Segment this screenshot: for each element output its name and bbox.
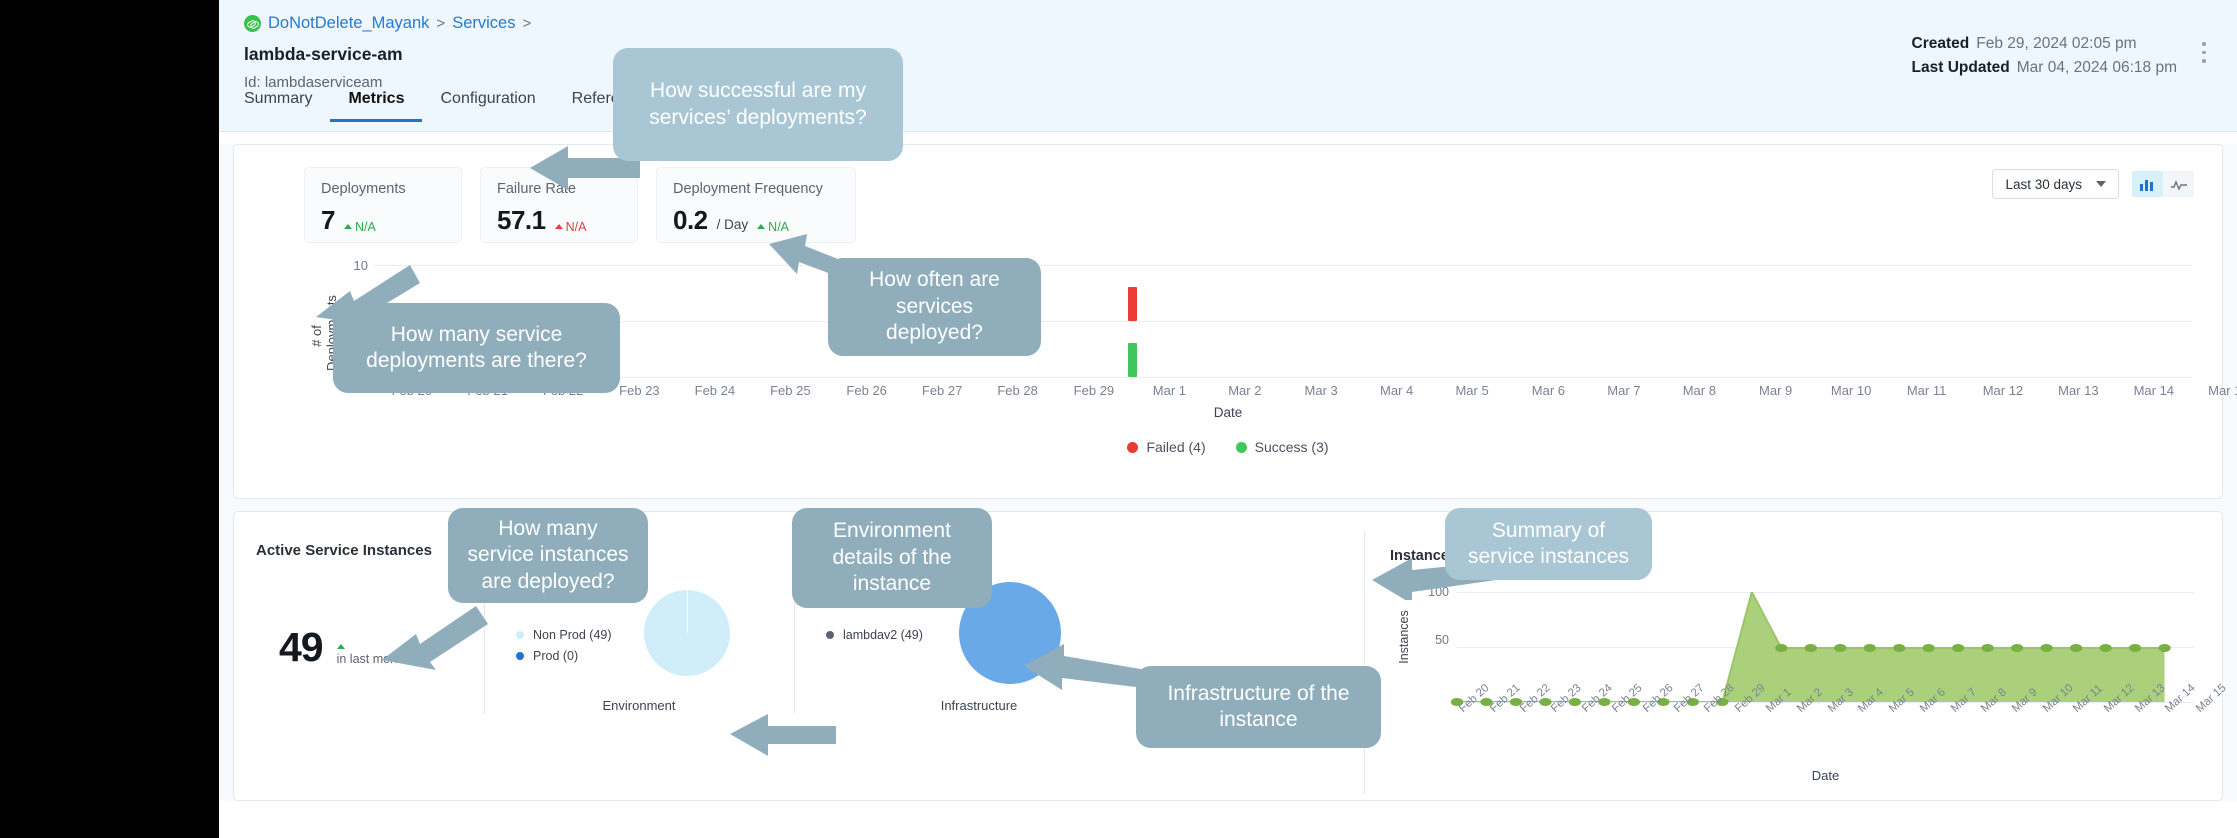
kpi-failure-rate-delta: N/A — [555, 220, 587, 234]
instance-count-history-ylabel: Instances — [1397, 592, 1411, 682]
xtick: Mar 12 — [1983, 383, 2023, 398]
bar-chart-icon[interactable] — [2132, 171, 2163, 197]
trend-up-icon — [757, 224, 765, 229]
deployments-chart-xticks: Feb 20 Feb 21 Feb 22 Feb 23 Feb 24 Feb 2… — [374, 383, 2192, 403]
active-service-instances-title: Active Service Instances — [256, 542, 432, 559]
callout-deployment-count: How many service deployments are there? — [333, 303, 620, 393]
legend-label-success: Success (3) — [1255, 439, 1329, 455]
bar-failed-feb-29[interactable] — [1128, 287, 1137, 321]
xtick: Mar 10 — [1831, 383, 1871, 398]
xtick: Mar 9 — [1759, 383, 1792, 398]
legend-label-non-prod: Non Prod (49) — [533, 628, 612, 642]
xtick: Feb 27 — [922, 383, 962, 398]
xtick: Mar 8 — [1683, 383, 1716, 398]
legend-dot-success — [1236, 442, 1247, 453]
callout-environment-details: Environment details of the instance — [792, 508, 992, 608]
legend-label-prod: Prod (0) — [533, 649, 578, 663]
breadcrumb: DoNotDelete_Mayank > Services > — [219, 14, 2237, 33]
record-metadata: CreatedFeb 29, 2024 02:05 pm Last Update… — [1912, 32, 2177, 80]
xtick: Mar 1 — [1153, 383, 1186, 398]
legend-dot-non-prod — [516, 631, 524, 639]
legend-label-lambdav2: lambdav2 (49) — [843, 628, 923, 642]
xtick: Mar 4 — [1380, 383, 1413, 398]
xtick: Mar 15 — [2194, 682, 2229, 715]
last-updated-label: Last Updated — [1912, 59, 2010, 76]
kpi-deployment-frequency-value: 0.2 — [673, 205, 708, 236]
xtick: Feb 24 — [695, 383, 735, 398]
environment-pie-chart[interactable] — [644, 590, 730, 676]
last-updated-value: Mar 04, 2024 06:18 pm — [2017, 59, 2177, 76]
instance-history-markers — [1457, 592, 2194, 702]
legend-label-failed: Failed (4) — [1146, 439, 1205, 455]
kpi-deployments: Deployments 7 N/A — [304, 167, 462, 243]
legend-dot-lambdav2 — [826, 631, 834, 639]
kpi-deployment-frequency-unit: / Day — [717, 217, 749, 232]
kpi-deployments-delta-text: N/A — [355, 220, 376, 234]
callout-arrow-6 — [1020, 640, 1150, 695]
kpi-deployments-delta: N/A — [344, 220, 376, 234]
instance-history-xticks: Feb 20 Feb 21 Feb 22 Feb 23 Feb 24 Feb 2… — [1457, 706, 2194, 766]
xtick: Feb 23 — [619, 383, 659, 398]
legend-item-prod[interactable]: Prod (0) — [516, 649, 612, 663]
kpi-failure-rate-value: 57.1 — [497, 205, 546, 236]
xtick: Feb 28 — [997, 383, 1037, 398]
link-circle-icon — [244, 15, 261, 32]
xtick: Mar 11 — [1907, 383, 1947, 398]
gridline — [374, 377, 2192, 378]
xtick: Feb 29 — [1074, 383, 1114, 398]
trend-up-icon — [337, 644, 345, 649]
infrastructure-caption: Infrastructure — [844, 698, 1114, 713]
xtick: Mar 6 — [1532, 383, 1565, 398]
legend-item-failed[interactable]: Failed (4) — [1127, 439, 1205, 455]
instance-count-value: 49 — [279, 627, 323, 668]
time-range-value: Last 30 days — [2005, 177, 2082, 192]
legend-item-success[interactable]: Success (3) — [1236, 439, 1329, 455]
instance-history-plot-area — [1457, 592, 2194, 702]
kpi-deployments-label: Deployments — [321, 181, 445, 197]
breadcrumb-item-project[interactable]: DoNotDelete_Mayank — [268, 14, 429, 33]
tab-summary[interactable]: Summary — [244, 90, 330, 119]
deployments-plot-area — [374, 265, 2192, 377]
environment-legend: Non Prod (49) Prod (0) — [516, 628, 612, 670]
xtick: Feb 26 — [846, 383, 886, 398]
legend-dot-failed — [1127, 442, 1138, 453]
infrastructure-legend: lambdav2 (49) — [826, 628, 923, 649]
legend-dot-prod — [516, 652, 524, 660]
deployments-chart-legend: Failed (4) Success (3) — [234, 439, 2222, 455]
chart-controls: Last 30 days — [1992, 169, 2194, 199]
callout-infrastructure-details: Infrastructure of the instance — [1136, 666, 1381, 748]
created-value: Feb 29, 2024 02:05 pm — [1976, 35, 2136, 52]
xtick: Mar 13 — [2058, 383, 2098, 398]
callout-arrow-4 — [378, 600, 488, 670]
callout-deployments-success: How successful are my services’ deployme… — [613, 48, 903, 161]
bar-success-feb-29[interactable] — [1128, 343, 1137, 377]
instance-history-xlabel: Date — [1457, 768, 2194, 783]
xtick: Mar 7 — [1607, 383, 1640, 398]
ytick-50: 50 — [1435, 633, 1449, 647]
deployments-chart-xlabel: Date — [234, 405, 2222, 420]
kpi-failure-rate-delta-text: N/A — [566, 220, 587, 234]
xtick: Mar 15 — [2208, 383, 2237, 398]
last-updated-row: Last UpdatedMar 04, 2024 06:18 pm — [1912, 56, 2177, 80]
created-row: CreatedFeb 29, 2024 02:05 pm — [1912, 32, 2177, 56]
tab-metrics[interactable]: Metrics — [330, 90, 422, 122]
created-label: Created — [1912, 35, 1970, 52]
gridline — [374, 265, 2192, 266]
pie-slice-divider — [687, 590, 688, 633]
xtick: Mar 2 — [1228, 383, 1261, 398]
callout-instance-count: How many service instances are deployed? — [448, 508, 648, 603]
legend-item-lambdav2[interactable]: lambdav2 (49) — [826, 628, 923, 642]
chevron-down-icon — [2096, 181, 2106, 187]
trend-down-icon — [555, 224, 563, 229]
kpi-deployment-frequency-label: Deployment Frequency — [673, 181, 839, 197]
trend-up-icon — [344, 224, 352, 229]
xtick: Mar 14 — [2134, 383, 2174, 398]
gridline — [374, 321, 2192, 322]
callout-deployment-frequency: How often are services deployed? — [828, 258, 1041, 356]
kebab-menu-icon[interactable] — [2195, 42, 2213, 68]
xtick: Mar 3 — [1305, 383, 1338, 398]
tab-configuration[interactable]: Configuration — [422, 90, 553, 119]
callout-instances-summary: Summary of service instances — [1445, 508, 1652, 580]
breadcrumb-item-services[interactable]: Services — [452, 14, 515, 33]
xtick: Feb 25 — [770, 383, 810, 398]
callout-arrow-5 — [728, 710, 838, 760]
breadcrumb-separator-2: > — [522, 15, 531, 32]
legend-item-non-prod[interactable]: Non Prod (49) — [516, 628, 612, 642]
chart-type-toggle — [2132, 171, 2194, 197]
line-chart-icon[interactable] — [2163, 171, 2194, 197]
kpi-deployments-value: 7 — [321, 205, 335, 236]
breadcrumb-separator: > — [436, 15, 445, 32]
time-range-select[interactable]: Last 30 days — [1992, 169, 2119, 199]
page-header: DoNotDelete_Mayank > Services > lambda-s… — [219, 0, 2237, 132]
tab-bar: Summary Metrics Configuration Referenced — [219, 90, 2237, 132]
xtick: Mar 5 — [1455, 383, 1488, 398]
